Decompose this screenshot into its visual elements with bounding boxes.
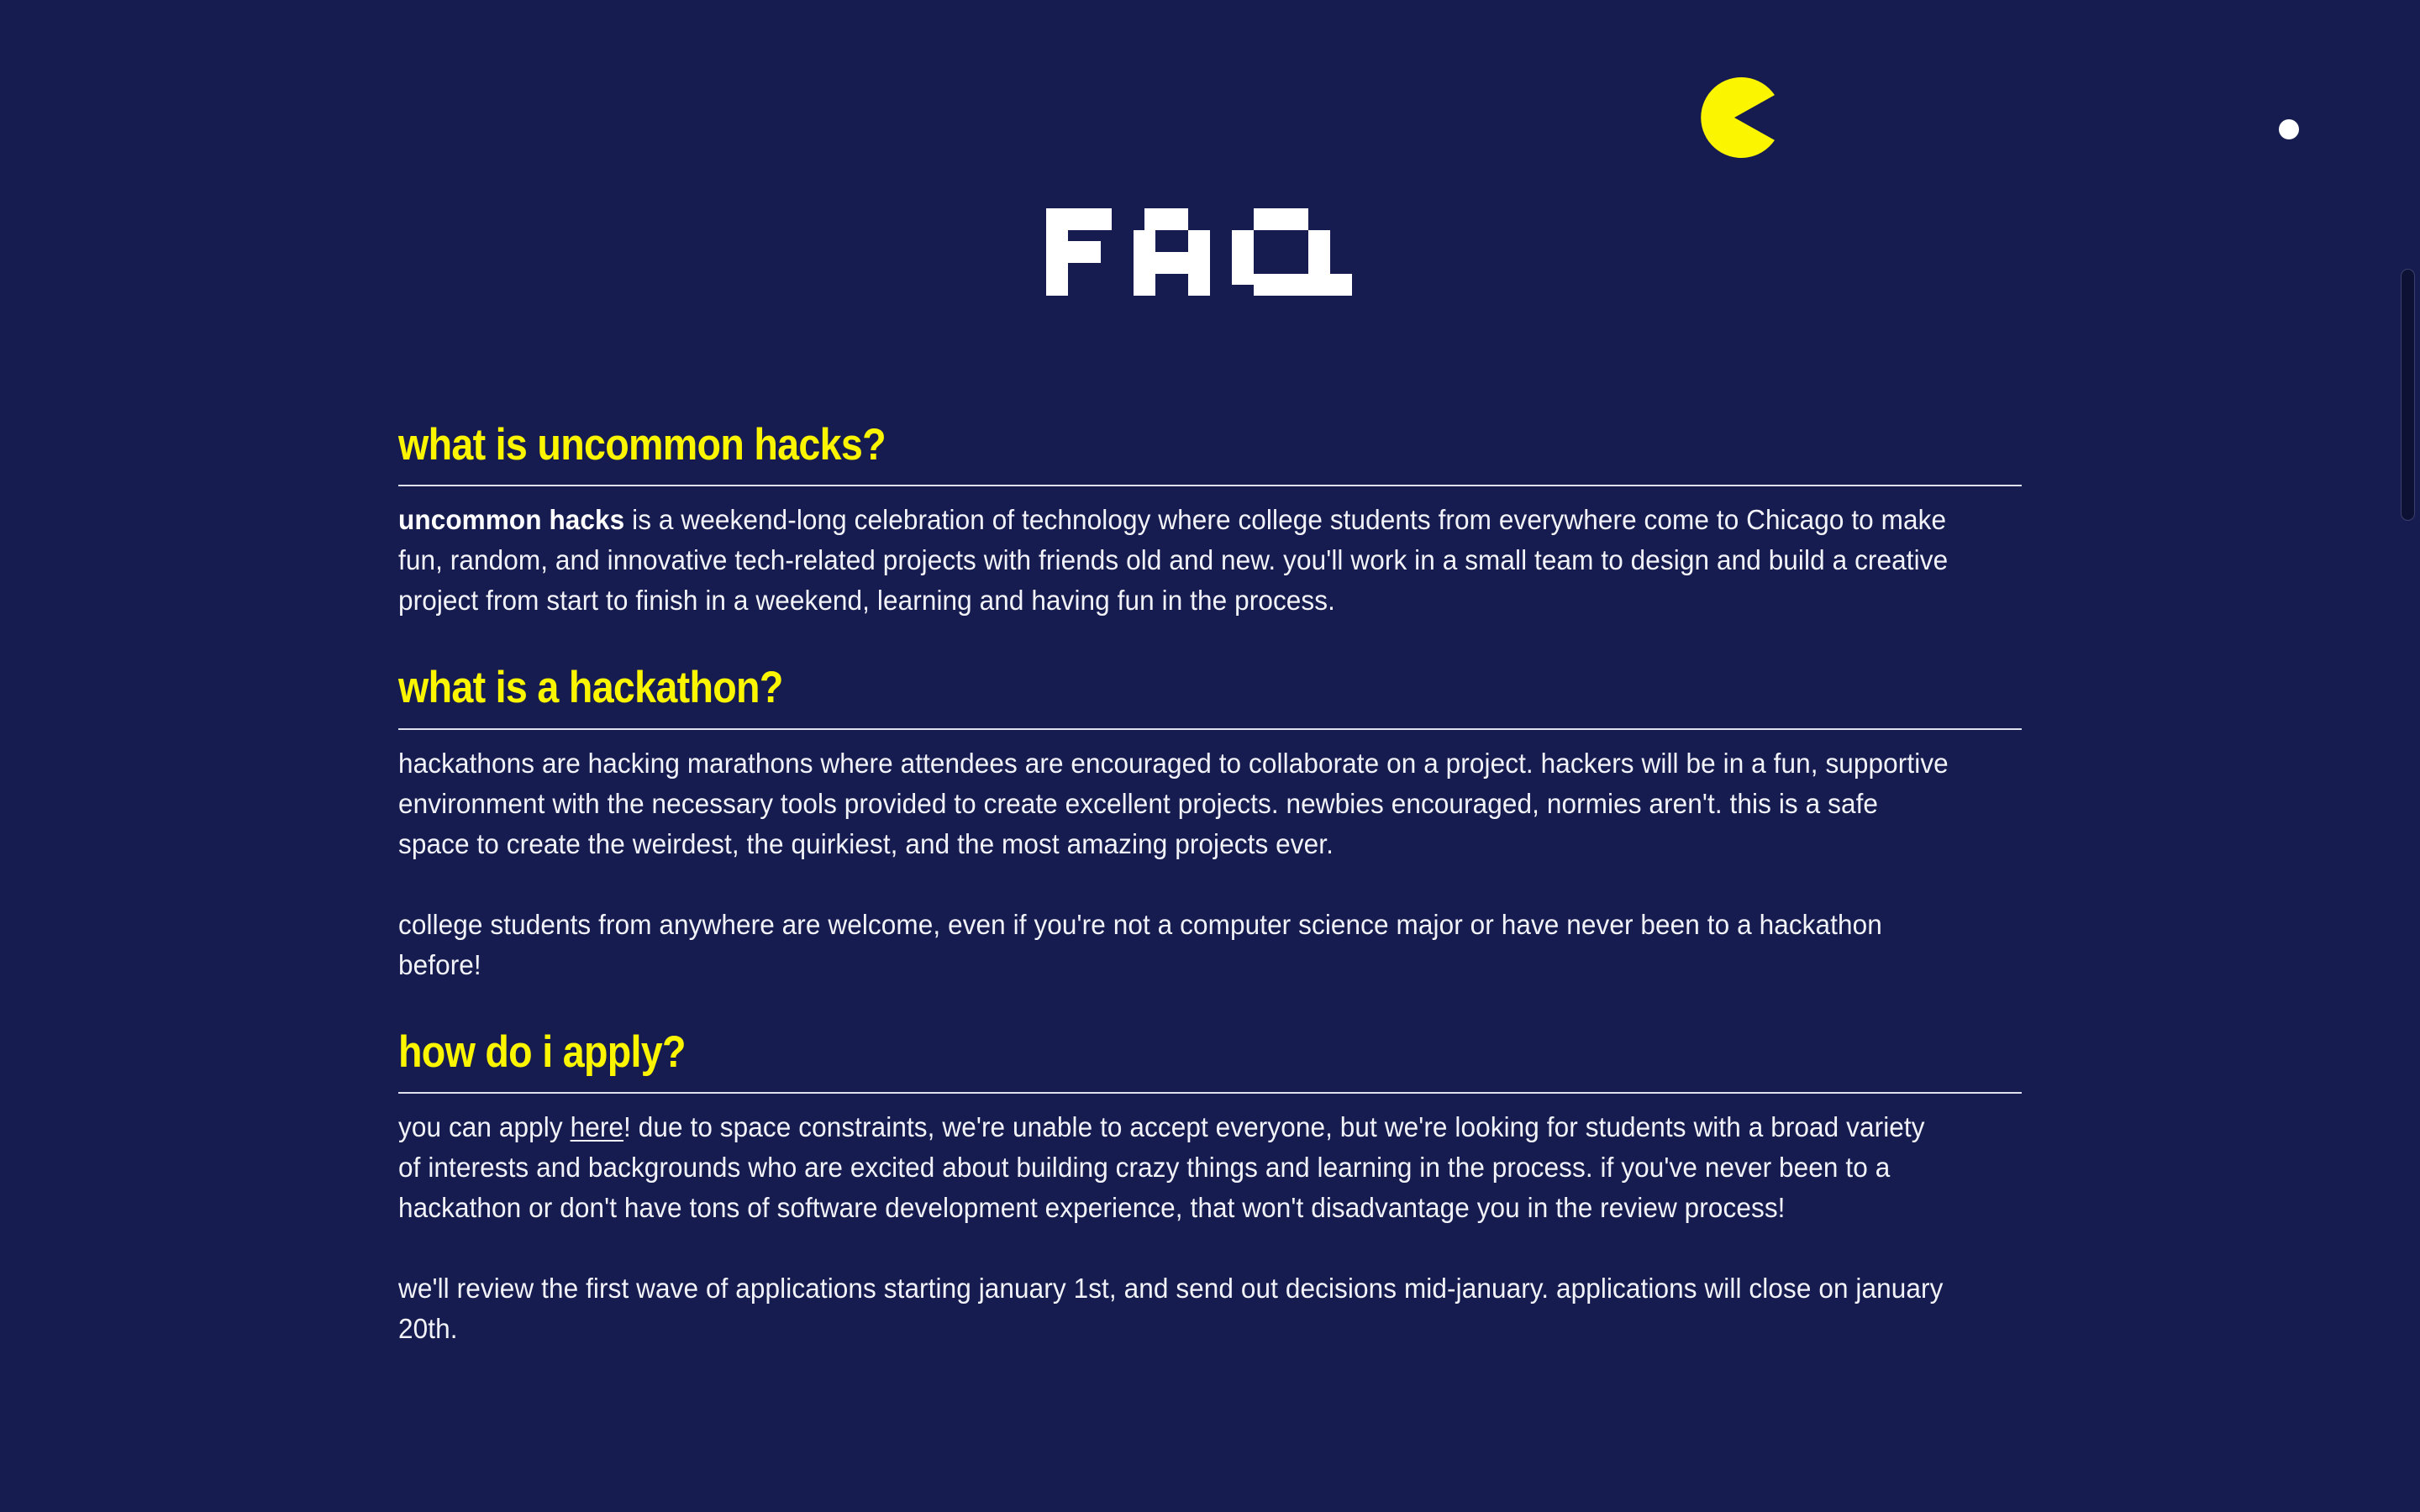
faq-divider-2 — [398, 1092, 2022, 1094]
faq-answer-2-paragraph-0: you can apply here! due to space constra… — [398, 1107, 1949, 1228]
page-scrollbar-thumb[interactable] — [2401, 269, 2415, 521]
faq-question-0: what is uncommon hacks? — [398, 420, 1827, 470]
pacman-icon — [1694, 77, 1775, 158]
faq-answer-0-paragraph-0: uncommon hacks is a weekend-long celebra… — [398, 500, 1949, 621]
apply-text-after-link: ! due to space constraints, we're unable… — [398, 1111, 1925, 1223]
page-scrollbar[interactable] — [2396, 0, 2420, 1512]
faq-divider-0 — [398, 485, 2022, 486]
section-spacer — [398, 985, 2022, 1027]
faq-answer-0-body: is a weekend-long celebration of technol… — [398, 504, 1948, 616]
section-spacer — [398, 621, 2022, 663]
pellet-dot-icon — [2279, 119, 2299, 139]
faq-answer-1-paragraph-0: hackathons are hacking marathons where a… — [398, 743, 1949, 864]
apply-here-link[interactable]: here — [571, 1111, 623, 1142]
faq-answer-1-paragraph-1: college students from anywhere are welco… — [398, 905, 1949, 985]
faq-question-1: what is a hackathon? — [398, 663, 1827, 712]
faq-divider-1 — [398, 728, 2022, 730]
faq-answer-2-paragraph-1: we'll review the first wave of applicati… — [398, 1268, 1949, 1349]
apply-text-before-link: you can apply — [398, 1111, 571, 1142]
faq-item-what-is-a-hackathon: what is a hackathon? hackathons are hack… — [398, 663, 2022, 984]
faq-question-2: how do i apply? — [398, 1027, 1827, 1077]
faq-item-what-is-uncommon-hacks: what is uncommon hacks? uncommon hacks i… — [398, 420, 2022, 621]
page-title: FAQ — [0, 208, 2420, 296]
faq-content: what is uncommon hacks? uncommon hacks i… — [398, 420, 2022, 1349]
faq-item-how-do-i-apply: how do i apply? you can apply here! due … — [398, 1027, 2022, 1349]
brand-name: uncommon hacks — [398, 504, 624, 535]
